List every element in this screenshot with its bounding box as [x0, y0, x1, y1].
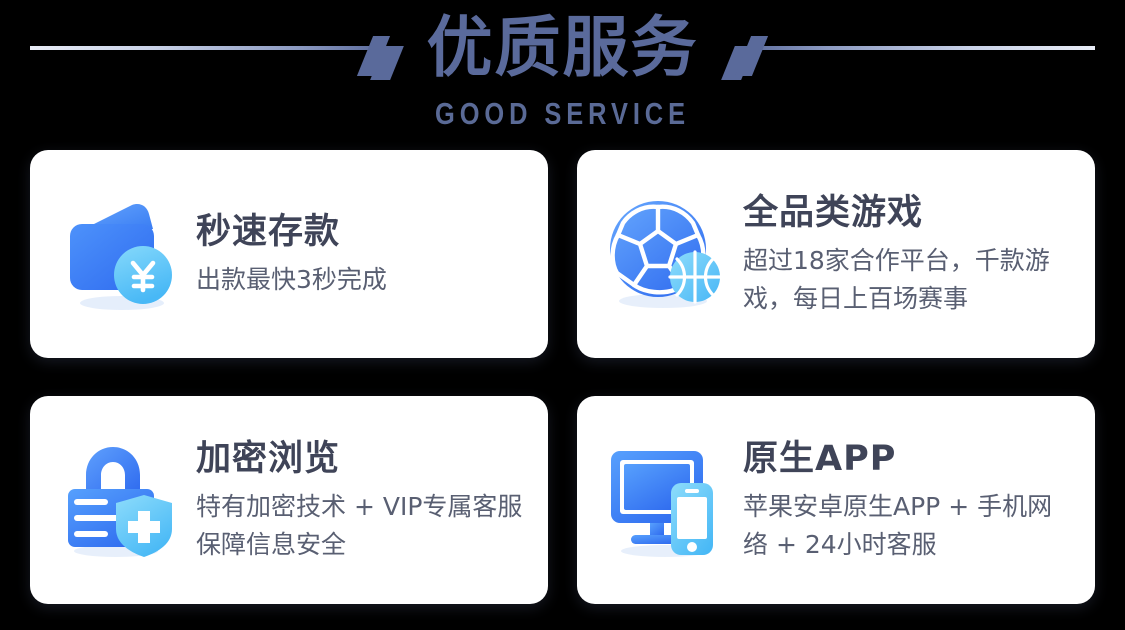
page-header: 优质服务 GOOD SERVICE — [0, 0, 1125, 142]
monitor-phone-icon — [603, 437, 729, 563]
feature-card-text: 秒速存款 出款最快3秒完成 — [196, 209, 530, 299]
feature-card-native-app[interactable]: 原生APP 苹果安卓原生APP + 手机网络 + 24小时客服 — [577, 396, 1095, 604]
soccer-basketball-icon — [603, 191, 729, 317]
feature-card-text: 原生APP 苹果安卓原生APP + 手机网络 + 24小时客服 — [743, 436, 1077, 564]
page-subtitle: GOOD SERVICE — [101, 96, 1024, 132]
feature-card-title: 原生APP — [743, 436, 1077, 482]
feature-card-deposit[interactable]: 秒速存款 出款最快3秒完成 — [30, 150, 548, 358]
feature-card-text: 加密浏览 特有加密技术 + VIP专属客服保障信息安全 — [196, 436, 530, 564]
promo-banner: 优质服务 GOOD SERVICE — [0, 0, 1125, 630]
lock-shield-icon — [56, 437, 182, 563]
feature-card-text: 全品类游戏 超过18家合作平台，千款游戏，每日上百场赛事 — [743, 190, 1077, 318]
feature-card-grid: 秒速存款 出款最快3秒完成 — [30, 150, 1095, 604]
feature-card-title: 秒速存款 — [196, 209, 530, 255]
feature-card-description: 特有加密技术 + VIP专属客服保障信息安全 — [196, 488, 530, 564]
feature-card-title: 加密浏览 — [196, 436, 530, 482]
feature-card-games[interactable]: 全品类游戏 超过18家合作平台，千款游戏，每日上百场赛事 — [577, 150, 1095, 358]
page-title: 优质服务 — [0, 6, 1125, 90]
feature-card-description: 苹果安卓原生APP + 手机网络 + 24小时客服 — [743, 488, 1077, 564]
feature-card-description: 出款最快3秒完成 — [196, 261, 530, 299]
feature-card-description: 超过18家合作平台，千款游戏，每日上百场赛事 — [743, 242, 1077, 318]
feature-card-title: 全品类游戏 — [743, 190, 1077, 236]
feature-card-encryption[interactable]: 加密浏览 特有加密技术 + VIP专属客服保障信息安全 — [30, 396, 548, 604]
wallet-yen-icon — [56, 191, 182, 317]
